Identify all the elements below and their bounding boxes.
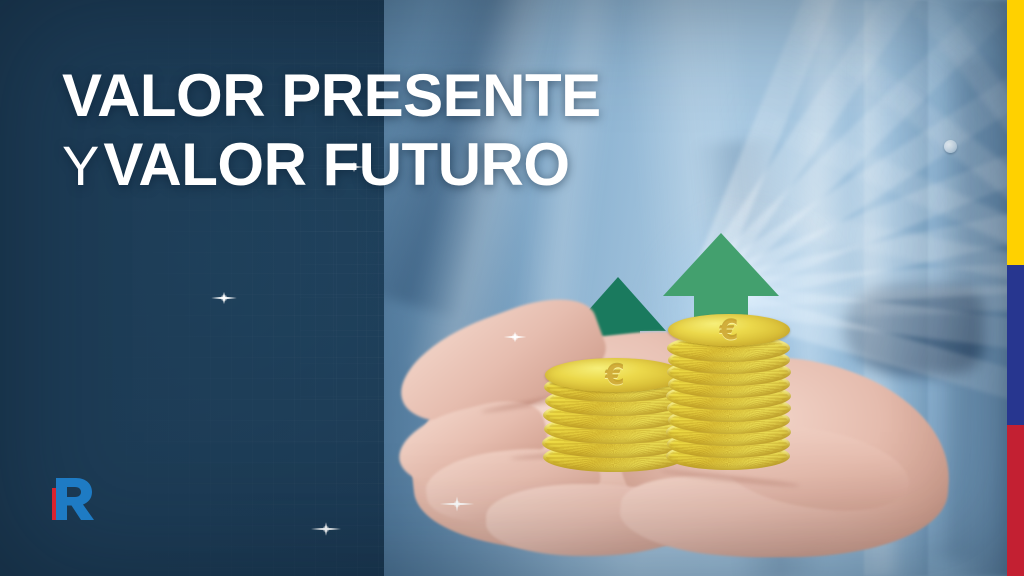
euro-coin-stack-icon: € xyxy=(665,314,793,476)
r-monogram-logo[interactable] xyxy=(50,474,102,524)
sparkle-icon xyxy=(500,330,530,344)
title-line-2-text: VALOR FUTURO xyxy=(103,131,569,198)
page-title: VALOR PRESENTE YVALOR FUTURO xyxy=(62,62,762,198)
flag-band-blue xyxy=(1007,265,1024,425)
title-line-1: VALOR PRESENTE xyxy=(62,62,762,129)
title-conjunction: Y xyxy=(62,134,103,197)
title-line-2: YVALOR FUTURO xyxy=(62,131,762,198)
colombia-flag-stripe xyxy=(1007,0,1024,576)
sparkle-icon xyxy=(434,494,480,514)
sparkle-icon xyxy=(306,520,346,538)
slide-canvas: € € VALOR PRESENTE YVALOR FUTURO xyxy=(0,0,1024,576)
euro-symbol: € xyxy=(720,317,739,344)
euro-symbol: € xyxy=(605,361,624,389)
flag-band-red xyxy=(1007,425,1024,576)
logo-svg xyxy=(50,474,102,524)
sparkle-icon xyxy=(207,290,241,306)
flag-band-yellow xyxy=(1007,0,1024,265)
